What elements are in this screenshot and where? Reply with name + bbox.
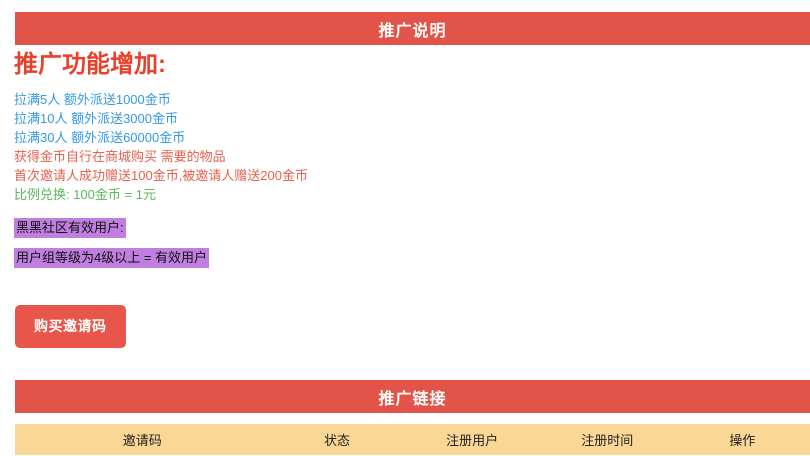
- promo-rule-line-1: 拉满5人 额外派送1000金币: [14, 90, 794, 109]
- promo-rule-line-5: 首次邀请人成功赠送100金币,被邀请人赠送200金币: [14, 166, 794, 185]
- promo-description-title: 推广说明: [378, 17, 446, 41]
- promo-feature-heading: 推广功能增加:: [14, 50, 794, 80]
- promo-rule-line-2: 拉满10人 额外派送3000金币: [14, 109, 794, 128]
- promo-rule-line-6: 比例兑换: 100金币 = 1元: [14, 185, 794, 204]
- column-header-action: 操作: [675, 424, 810, 455]
- column-header-registered-user: 注册用户: [405, 424, 540, 455]
- promo-link-header-bar: 推广链接: [15, 380, 810, 413]
- promo-description-header-bar: 推广说明: [15, 12, 810, 45]
- column-header-invite-code: 邀请码: [15, 424, 269, 455]
- valid-user-label-highlight: 黑黑社区有效用户:: [14, 218, 126, 238]
- table-header-row: 邀请码 状态 注册用户 注册时间 操作: [15, 424, 810, 455]
- promo-link-table: 邀请码 状态 注册用户 注册时间 操作: [15, 424, 810, 456]
- promo-link-table-head: 邀请码 状态 注册用户 注册时间 操作: [15, 424, 810, 455]
- promo-description-body: 推广功能增加: 拉满5人 额外派送1000金币 拉满10人 额外派送3000金币…: [14, 50, 794, 268]
- promo-rule-line-3: 拉满30人 额外派送60000金币: [14, 128, 794, 147]
- valid-user-rule-highlight: 用户组等级为4级以上 = 有效用户: [14, 248, 209, 268]
- promo-link-title: 推广链接: [378, 385, 446, 409]
- buy-invite-code-button[interactable]: 购买邀请码: [15, 305, 126, 348]
- promo-rule-line-4: 获得金币自行在商城购买 需要的物品: [14, 147, 794, 166]
- column-header-registered-time: 注册时间: [540, 424, 675, 455]
- promotion-page: 推广说明 推广功能增加: 拉满5人 额外派送1000金币 拉满10人 额外派送3…: [0, 0, 810, 456]
- column-header-status: 状态: [269, 424, 404, 455]
